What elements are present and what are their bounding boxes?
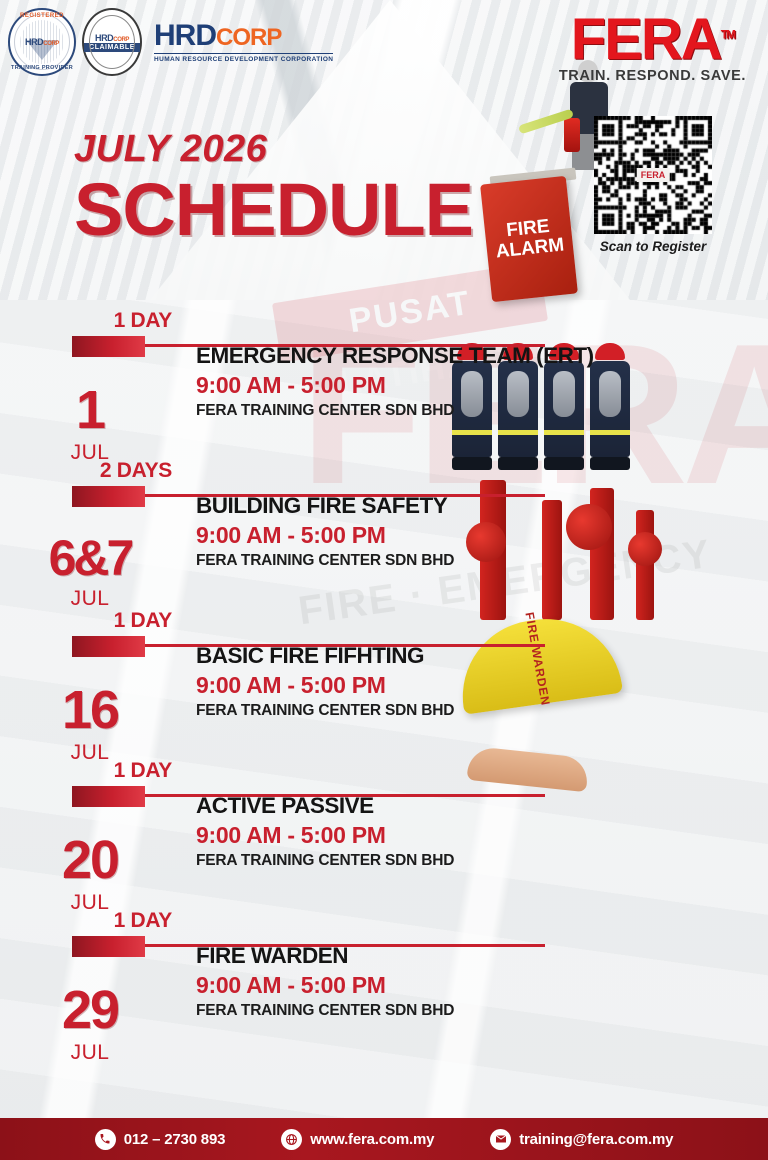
date-number: 29 <box>0 983 180 1037</box>
globe-icon <box>281 1129 302 1150</box>
claimable-badge-ring <box>89 15 135 69</box>
course-time: 9:00 AM - 5:00 PM <box>196 522 454 549</box>
badge-top-text: REGISTERED <box>10 13 74 19</box>
schedule-row-details: BASIC FIRE FIFHTING9:00 AM - 5:00 PMFERA… <box>196 643 454 720</box>
hrd-corp-wordmark: HRDCORP HUMAN RESOURCE DEVELOPMENT CORPO… <box>154 21 333 63</box>
course-title: BASIC FIRE FIFHTING <box>196 643 454 669</box>
badge-core-corp: CORP <box>43 41 59 47</box>
fera-logo-word: FERATM <box>559 12 746 67</box>
duration-badge: 2 DAYS <box>0 460 180 481</box>
schedule-row: 1 DAY16JULBASIC FIRE FIFHTING9:00 AM - 5… <box>0 610 768 760</box>
course-time: 9:00 AM - 5:00 PM <box>196 672 454 699</box>
row-accent-bar <box>72 936 145 957</box>
footer-email-text: training@fera.com.my <box>519 1131 673 1148</box>
date-number: 20 <box>0 833 180 887</box>
hrd-claimable-badge: HRDCORP CLAIMABLE <box>82 8 142 76</box>
envelope-icon <box>490 1129 511 1150</box>
badge-core-text: HRDCORP <box>25 37 59 47</box>
date-month: JUL <box>0 1041 180 1065</box>
duration-badge: 1 DAY <box>0 910 180 931</box>
duration-badge: 1 DAY <box>0 610 180 631</box>
course-title: BUILDING FIRE SAFETY <box>196 493 454 519</box>
row-accent-bar <box>72 486 145 507</box>
hrd-registered-training-provider-badge: REGISTERED HRDCORP TRAINING PROVIDER <box>8 8 76 76</box>
schedule-row-date-block: 1 DAY1JUL <box>0 310 180 465</box>
course-time: 9:00 AM - 5:00 PM <box>196 372 594 399</box>
qr-register-block[interactable]: FERA Scan to Register <box>594 116 712 254</box>
schedule-row-date-block: 1 DAY16JUL <box>0 610 180 765</box>
badge-core-hrd: HRD <box>25 37 43 47</box>
course-venue: FERA TRAINING CENTER SDN BHD <box>196 1002 454 1020</box>
footer-website-text: www.fera.com.my <box>310 1131 434 1148</box>
poster-title-block: JULY 2026 SCHEDULE <box>74 128 473 245</box>
footer-email[interactable]: training@fera.com.my <box>490 1129 673 1150</box>
schedule-list: 1 DAY1JULEMERGENCY RESPONSE TEAM (ERT)9:… <box>0 310 768 1060</box>
schedule-row-date-block: 2 DAYS6&7JUL <box>0 460 180 611</box>
course-title: EMERGENCY RESPONSE TEAM (ERT) <box>196 343 594 369</box>
fire-alarm-icon: FIRE ALARM <box>480 176 578 302</box>
hrd-wordmark-row: HRDCORP <box>154 21 333 51</box>
row-accent-bar <box>72 636 145 657</box>
fera-logo-text: FERA <box>571 7 721 72</box>
contact-footer: 012 – 2730 893 www.fera.com.my training@… <box>0 1118 768 1160</box>
fire-alarm-label: FIRE ALARM <box>484 215 574 264</box>
course-venue: FERA TRAINING CENTER SDN BHD <box>196 402 594 420</box>
phone-icon <box>95 1129 116 1150</box>
fire-extinguisher-icon <box>564 118 580 152</box>
poster-header: REGISTERED HRDCORP TRAINING PROVIDER HRD… <box>0 0 768 105</box>
accreditation-logos: REGISTERED HRDCORP TRAINING PROVIDER HRD… <box>8 8 333 76</box>
title-month-year: JULY 2026 <box>74 128 473 171</box>
fera-logo: FERATM TRAIN. RESPOND. SAVE. <box>559 12 746 84</box>
schedule-row-details: BUILDING FIRE SAFETY9:00 AM - 5:00 PMFER… <box>196 493 454 570</box>
qr-code[interactable]: FERA <box>594 116 712 234</box>
course-time: 9:00 AM - 5:00 PM <box>196 822 454 849</box>
schedule-row-details: FIRE WARDEN9:00 AM - 5:00 PMFERA TRAININ… <box>196 943 454 1020</box>
schedule-row-date-block: 1 DAY29JUL <box>0 910 180 1065</box>
course-time: 9:00 AM - 5:00 PM <box>196 972 454 999</box>
schedule-row-details: ACTIVE PASSIVE9:00 AM - 5:00 PMFERA TRAI… <box>196 793 454 870</box>
schedule-row: 1 DAY20JULACTIVE PASSIVE9:00 AM - 5:00 P… <box>0 760 768 910</box>
hrd-wordmark-tagline: HUMAN RESOURCE DEVELOPMENT CORPORATION <box>154 53 333 63</box>
schedule-row: 2 DAYS6&7JULBUILDING FIRE SAFETY9:00 AM … <box>0 460 768 610</box>
badge-bottom-text: TRAINING PROVIDER <box>10 65 74 71</box>
footer-phone[interactable]: 012 – 2730 893 <box>95 1129 225 1150</box>
schedule-row-details: EMERGENCY RESPONSE TEAM (ERT)9:00 AM - 5… <box>196 343 594 420</box>
trademark-icon: TM <box>721 28 734 42</box>
duration-badge: 1 DAY <box>0 760 180 781</box>
duration-badge: 1 DAY <box>0 310 180 331</box>
date-number: 1 <box>0 383 180 437</box>
date-number: 6&7 <box>0 533 180 583</box>
page-title: SCHEDULE <box>74 175 473 245</box>
date-month: JUL <box>0 587 180 611</box>
photo-fire-alarm-box: FIRE ALARM <box>486 180 578 310</box>
course-venue: FERA TRAINING CENTER SDN BHD <box>196 552 454 570</box>
course-title: FIRE WARDEN <box>196 943 454 969</box>
course-venue: FERA TRAINING CENTER SDN BHD <box>196 852 454 870</box>
course-title: ACTIVE PASSIVE <box>196 793 454 819</box>
row-accent-bar <box>72 336 145 357</box>
footer-website[interactable]: www.fera.com.my <box>281 1129 434 1150</box>
hrd-wordmark-corp: CORP <box>216 24 281 51</box>
row-accent-bar <box>72 786 145 807</box>
hrd-wordmark-hrd: HRD <box>154 19 216 52</box>
schedule-row: 1 DAY29JULFIRE WARDEN9:00 AM - 5:00 PMFE… <box>0 910 768 1060</box>
qr-center-logo: FERA <box>637 168 670 182</box>
course-venue: FERA TRAINING CENTER SDN BHD <box>196 702 454 720</box>
footer-phone-text: 012 – 2730 893 <box>124 1131 225 1148</box>
qr-caption: Scan to Register <box>594 239 712 254</box>
date-number: 16 <box>0 683 180 737</box>
schedule-row: 1 DAY1JULEMERGENCY RESPONSE TEAM (ERT)9:… <box>0 310 768 460</box>
schedule-row-date-block: 1 DAY20JUL <box>0 760 180 915</box>
